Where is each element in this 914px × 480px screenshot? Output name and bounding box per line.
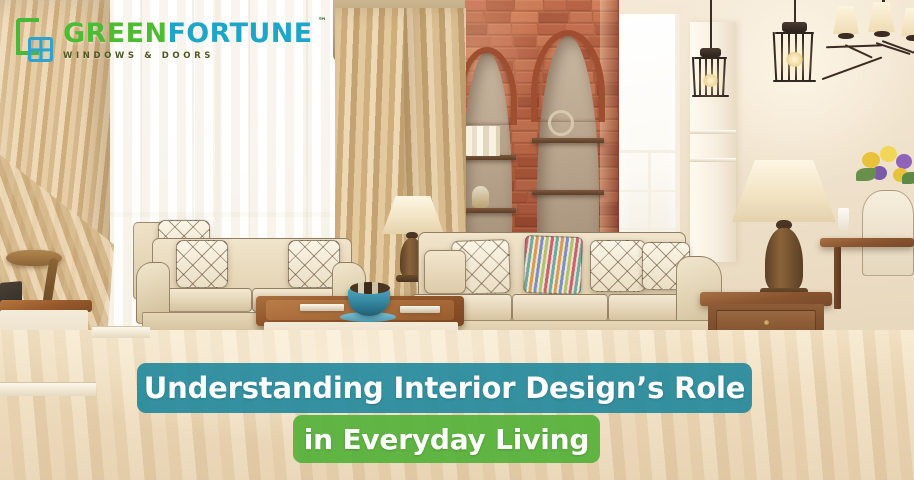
brick	[463, 36, 490, 47]
logo-word-blue: FORTUNE	[167, 18, 312, 49]
shelf-decor-ring	[548, 110, 574, 136]
brick	[488, 24, 511, 35]
chandelier-cup	[874, 31, 890, 37]
baseboard	[92, 326, 150, 338]
pendant-bar	[699, 57, 701, 97]
brick	[466, 24, 487, 35]
column-shelf	[690, 158, 736, 162]
brick	[539, 12, 568, 23]
main-sofa-striped-pillow	[523, 235, 583, 295]
headline-text-line2: in Everyday Living	[304, 423, 589, 456]
window-mullion	[675, 14, 680, 264]
pendant-bulb	[786, 52, 803, 67]
column-shelf	[690, 130, 736, 134]
left-sofa-seat	[158, 288, 252, 312]
foliage-icon	[902, 172, 914, 184]
pendant-cord	[794, 0, 796, 24]
alcove-shelf	[532, 190, 604, 195]
window-icon	[28, 37, 53, 62]
baseboard	[0, 382, 96, 396]
flower-icon	[880, 146, 897, 162]
logo-wordmark: GREENFORTUNE ™ WINDOWS & DOORS	[63, 20, 327, 61]
bowl-contents	[350, 282, 390, 294]
brick	[515, 0, 543, 11]
brick	[570, 12, 592, 23]
logo-tagline: WINDOWS & DOORS	[63, 51, 313, 61]
logo-word-row: GREENFORTUNE	[63, 20, 313, 47]
window-mullion	[619, 228, 677, 230]
left-sofa-pillow	[176, 240, 228, 288]
hero-banner: GREENFORTUNE ™ WINDOWS & DOORS Understan…	[0, 0, 914, 480]
brick	[514, 144, 536, 155]
coffee-table-book	[400, 306, 440, 313]
main-sofa-cushion	[424, 250, 466, 294]
chandelier-cup	[906, 35, 914, 41]
dining-table-top	[820, 238, 914, 247]
headline-banner-line1: Understanding Interior Design’s Role	[137, 363, 752, 413]
pendant-cord	[710, 0, 712, 52]
chandelier-cup	[838, 33, 854, 39]
brick	[511, 12, 538, 23]
trademark-symbol: ™	[318, 17, 327, 27]
headline-banner-line2: in Everyday Living	[293, 415, 600, 463]
foliage-icon	[856, 168, 876, 181]
brick	[518, 156, 539, 167]
pendant-bulb	[703, 74, 718, 87]
brick	[487, 0, 513, 11]
headline-text-line1: Understanding Interior Design’s Role	[144, 371, 745, 405]
brand-logo[interactable]: GREENFORTUNE ™ WINDOWS & DOORS	[16, 18, 327, 62]
window-mullion	[619, 190, 677, 192]
brick	[485, 12, 510, 23]
pendant-bar	[781, 32, 783, 82]
drawer-knob	[764, 320, 769, 325]
brick	[514, 36, 536, 47]
brick	[491, 36, 512, 47]
pendant-cap	[700, 48, 721, 57]
coffee-table-book	[300, 304, 344, 311]
dining-chair	[862, 190, 914, 276]
table-lamp-body	[765, 228, 803, 292]
main-sofa-seat	[512, 294, 608, 322]
flower-icon	[896, 154, 912, 169]
brick	[518, 48, 539, 59]
alcove-shelf	[458, 208, 516, 213]
brick	[512, 24, 537, 35]
brick	[567, 0, 591, 11]
shelf-books	[466, 126, 500, 156]
pendant-cap	[782, 22, 807, 32]
brick	[544, 0, 566, 11]
main-sofa-pillow	[590, 240, 646, 292]
logo-word-green: GREEN	[63, 18, 167, 49]
shelf-vase	[472, 186, 489, 208]
alcove-shelf	[532, 138, 604, 143]
dining-table-leg	[834, 247, 841, 309]
logo-mark	[16, 18, 56, 62]
